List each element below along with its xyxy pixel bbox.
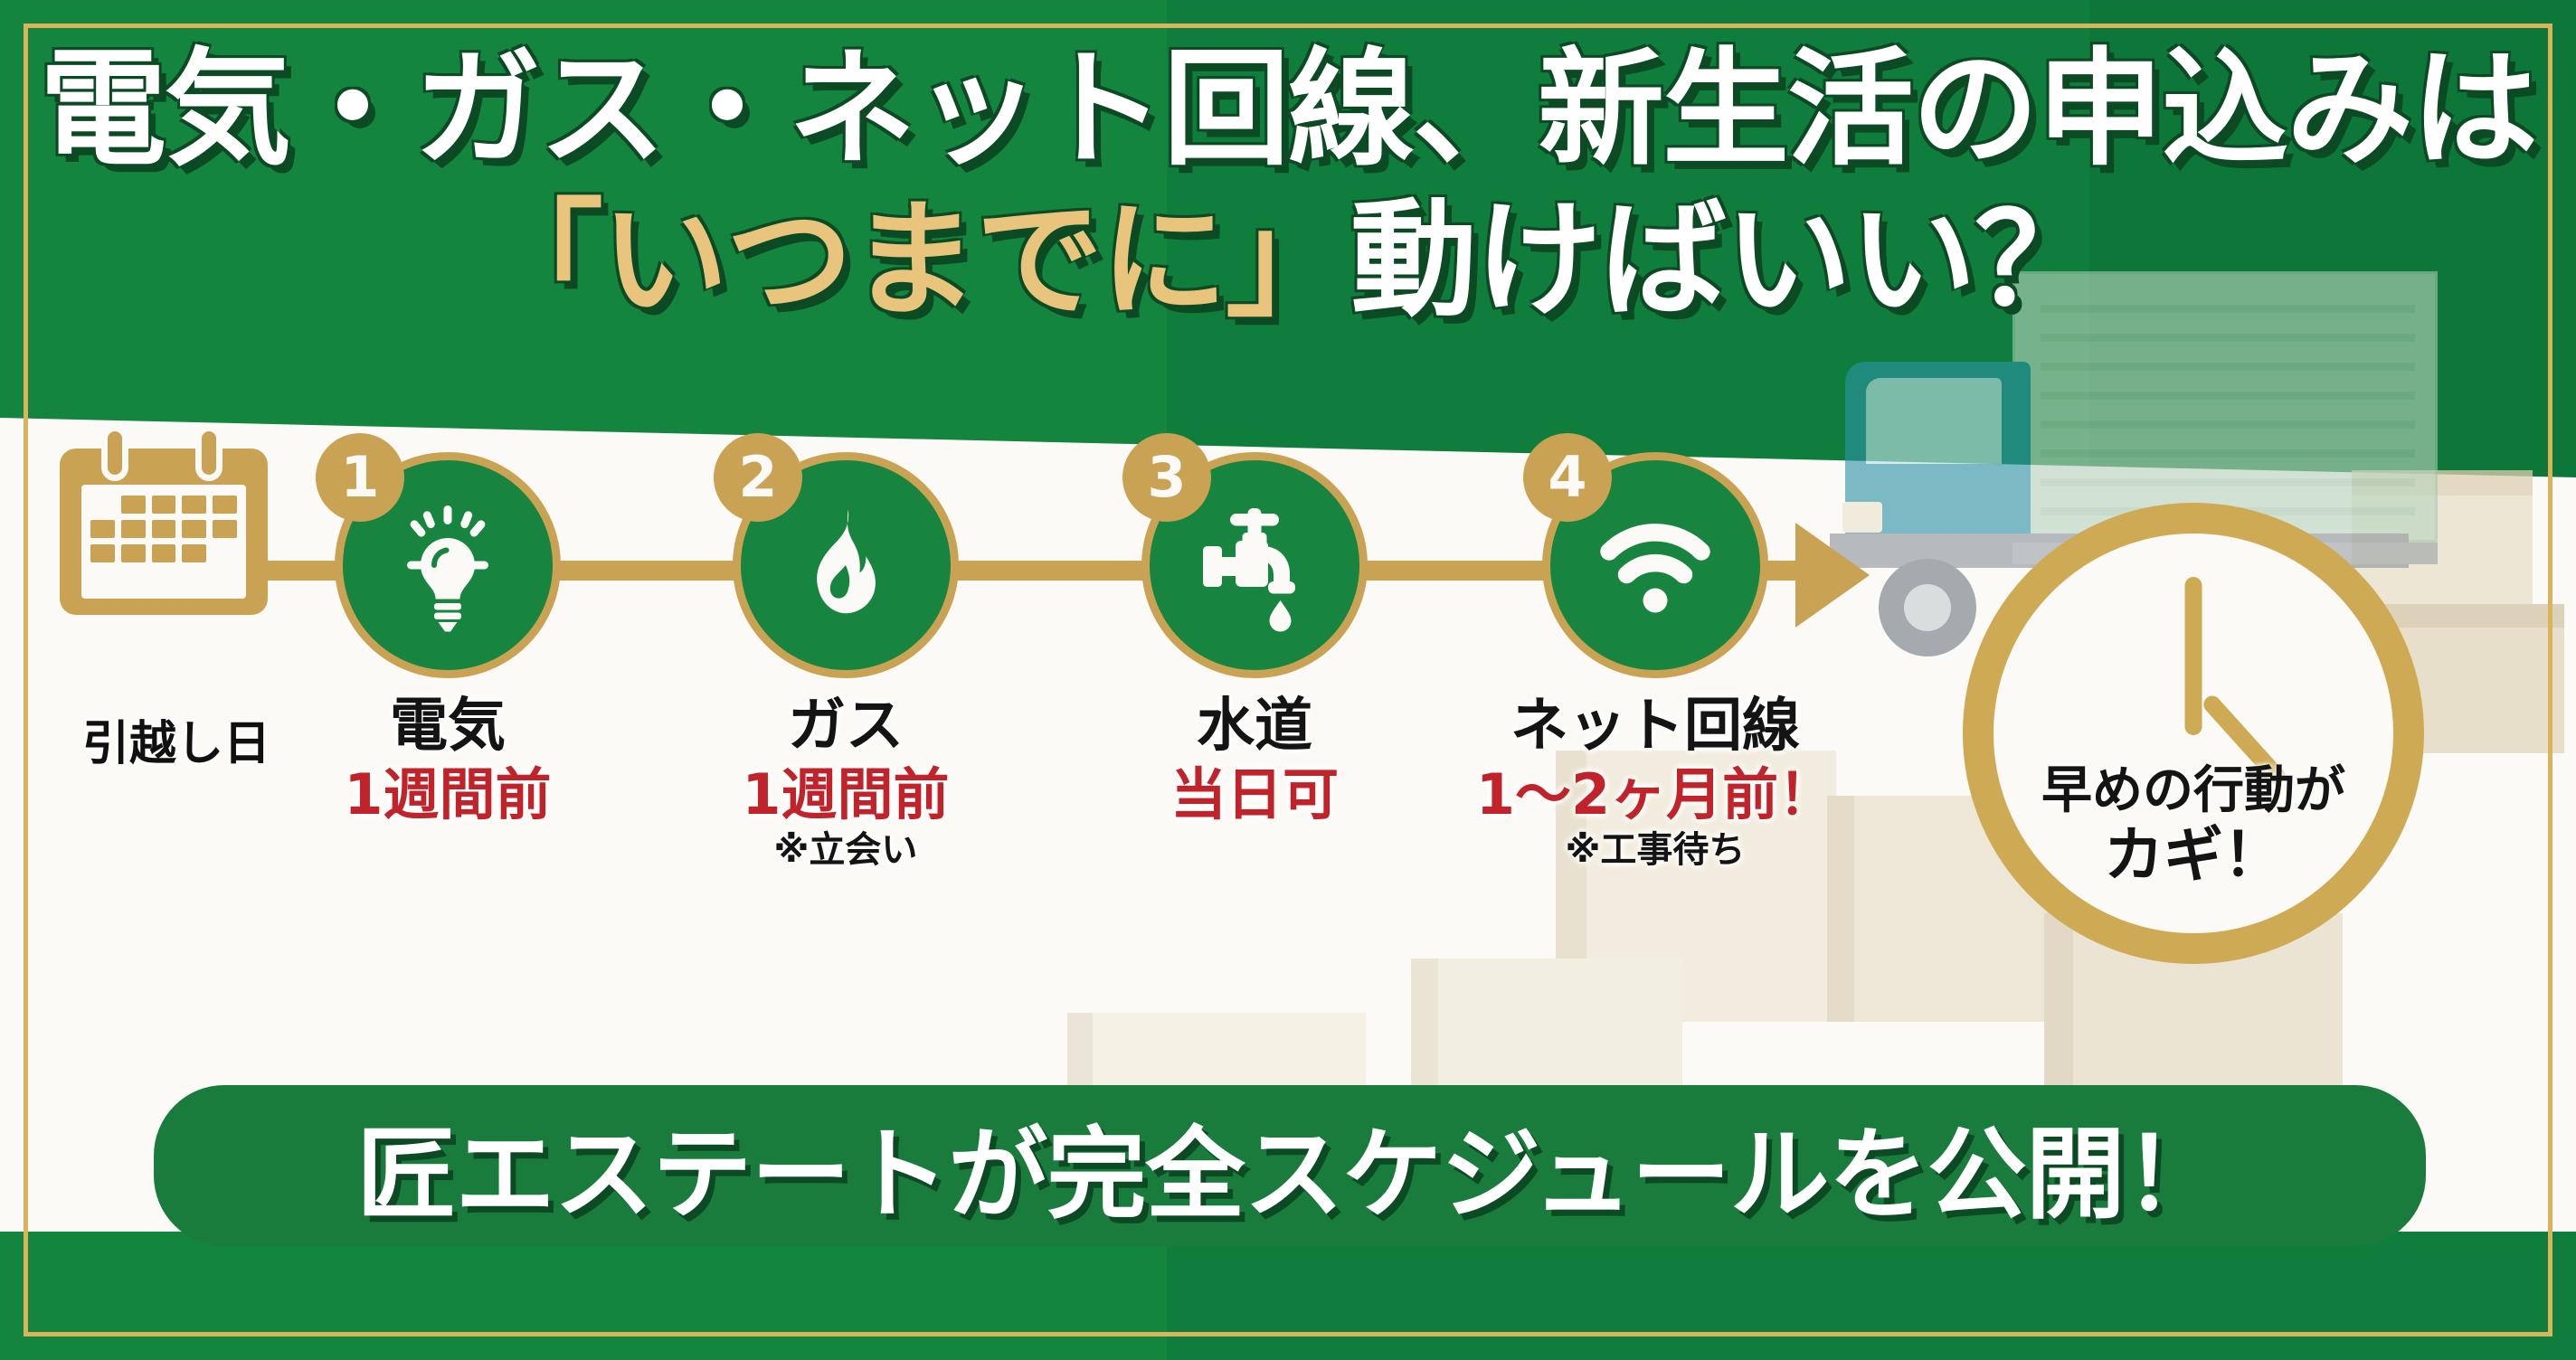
lightbulb-icon (380, 497, 516, 633)
cta-banner[interactable]: 匠エステートが完全スケジュールを公開！ (154, 1085, 2426, 1246)
step-circle: 4 (1542, 452, 1768, 678)
bottom-green-band-right (1167, 1232, 2576, 1360)
clock-minute-hand (2185, 577, 2202, 735)
title-line-2-white: 動けばいい？ (1350, 187, 2099, 335)
step-time: 当日可 (1019, 763, 1490, 826)
step-circle: 2 (733, 452, 959, 678)
wifi-icon (1587, 497, 1723, 633)
step-badge-number: 2 (714, 433, 802, 522)
step-name: ガス (611, 694, 1081, 760)
step-note: ※工事待ち (1420, 829, 1890, 871)
clock-caption-line1: 早めの行動が (1994, 761, 2393, 821)
step-time: 1週間前 (611, 763, 1081, 826)
step-labels: ネット回線 1〜2ヶ月前！ ※工事待ち (1420, 694, 1890, 871)
step-circle: 1 (335, 452, 561, 678)
truck-window (1866, 378, 2002, 464)
calendar-icon (60, 425, 268, 615)
timeline-step-electricity[interactable]: 1 電気 1週間前 (335, 452, 561, 678)
truck-wheel-front (1879, 559, 1976, 656)
clock-caption: 早めの行動が カギ！ (1994, 761, 2393, 890)
infographic-poster: 電気・ガス・ネット回線、新生活の申込みは 「いつまでに」動けばいい？ (0, 0, 2576, 1360)
timeline-step-water[interactable]: 3 水道 当日可 (1141, 452, 1368, 678)
step-time: 1〜2ヶ月前！ (1420, 763, 1890, 826)
title-block: 電気・ガス・ネット回線、新生活の申込みは 「いつまでに」動けばいい？ (0, 42, 2576, 329)
clock-icon: 早めの行動が カギ！ (1963, 503, 2424, 964)
step-name: ネット回線 (1420, 694, 1890, 760)
step-name: 水道 (1019, 694, 1490, 760)
timeline-step-gas[interactable]: 2 ガス 1週間前 ※立会い (733, 452, 959, 678)
step-labels: 水道 当日可 (1019, 694, 1490, 829)
timeline-step-internet[interactable]: 4 ネット回線 1〜2ヶ月前！ ※工事待ち (1542, 452, 1768, 678)
title-line-2: 「いつまでに」動けばいい？ (0, 193, 2576, 329)
step-badge-number: 3 (1122, 433, 1211, 522)
step-labels: ガス 1週間前 ※立会い (611, 694, 1081, 871)
faucet-icon (1187, 497, 1322, 633)
flame-icon (782, 502, 909, 628)
title-line-1: 電気・ガス・ネット回線、新生活の申込みは (0, 42, 2576, 178)
step-badge-number: 1 (316, 433, 404, 522)
arrow-right-icon (1795, 523, 1870, 628)
clock-caption-line2: カギ！ (1994, 821, 2393, 890)
step-circle: 3 (1141, 452, 1368, 678)
title-line-2-gold: 「いつまでに」 (477, 187, 1350, 335)
step-note: ※立会い (611, 829, 1081, 871)
step-badge-number: 4 (1523, 433, 1612, 522)
cta-banner-text: 匠エステートが完全スケジュールを公開！ (356, 1093, 2222, 1238)
